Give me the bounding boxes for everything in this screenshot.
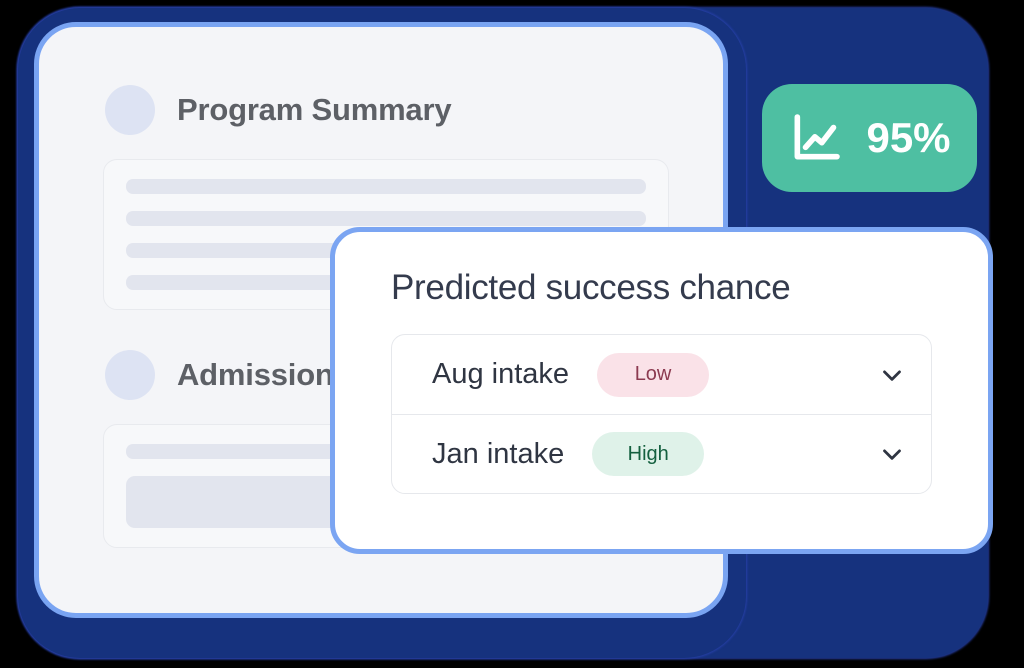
avatar-circle-icon xyxy=(105,350,155,400)
predicted-success-modal: Predicted success chance Aug intake Low … xyxy=(330,227,993,554)
page-title: Program Summary xyxy=(177,92,451,128)
intake-label: Aug intake xyxy=(432,358,569,391)
skeleton-line xyxy=(126,211,646,226)
intake-list: Aug intake Low Jan intake High xyxy=(391,334,932,494)
chevron-down-icon[interactable] xyxy=(877,439,907,469)
section-title-admission: Admission xyxy=(177,357,334,393)
modal-title: Predicted success chance xyxy=(391,268,932,308)
status-badge: 95% xyxy=(866,114,950,162)
avatar-circle-icon xyxy=(105,85,155,135)
list-item[interactable]: Jan intake High xyxy=(392,414,931,493)
illustration-stage: Program Summary Admission xyxy=(0,0,1024,668)
list-item[interactable]: Aug intake Low xyxy=(392,335,931,414)
intake-label: Jan intake xyxy=(432,438,564,471)
line-chart-icon xyxy=(788,110,844,166)
success-score-badge: 95% xyxy=(762,84,977,192)
status-badge: High xyxy=(592,432,704,476)
skeleton-line xyxy=(126,179,646,194)
chevron-down-icon[interactable] xyxy=(877,360,907,390)
section-header: Program Summary xyxy=(39,85,723,135)
status-badge: Low xyxy=(597,353,709,397)
